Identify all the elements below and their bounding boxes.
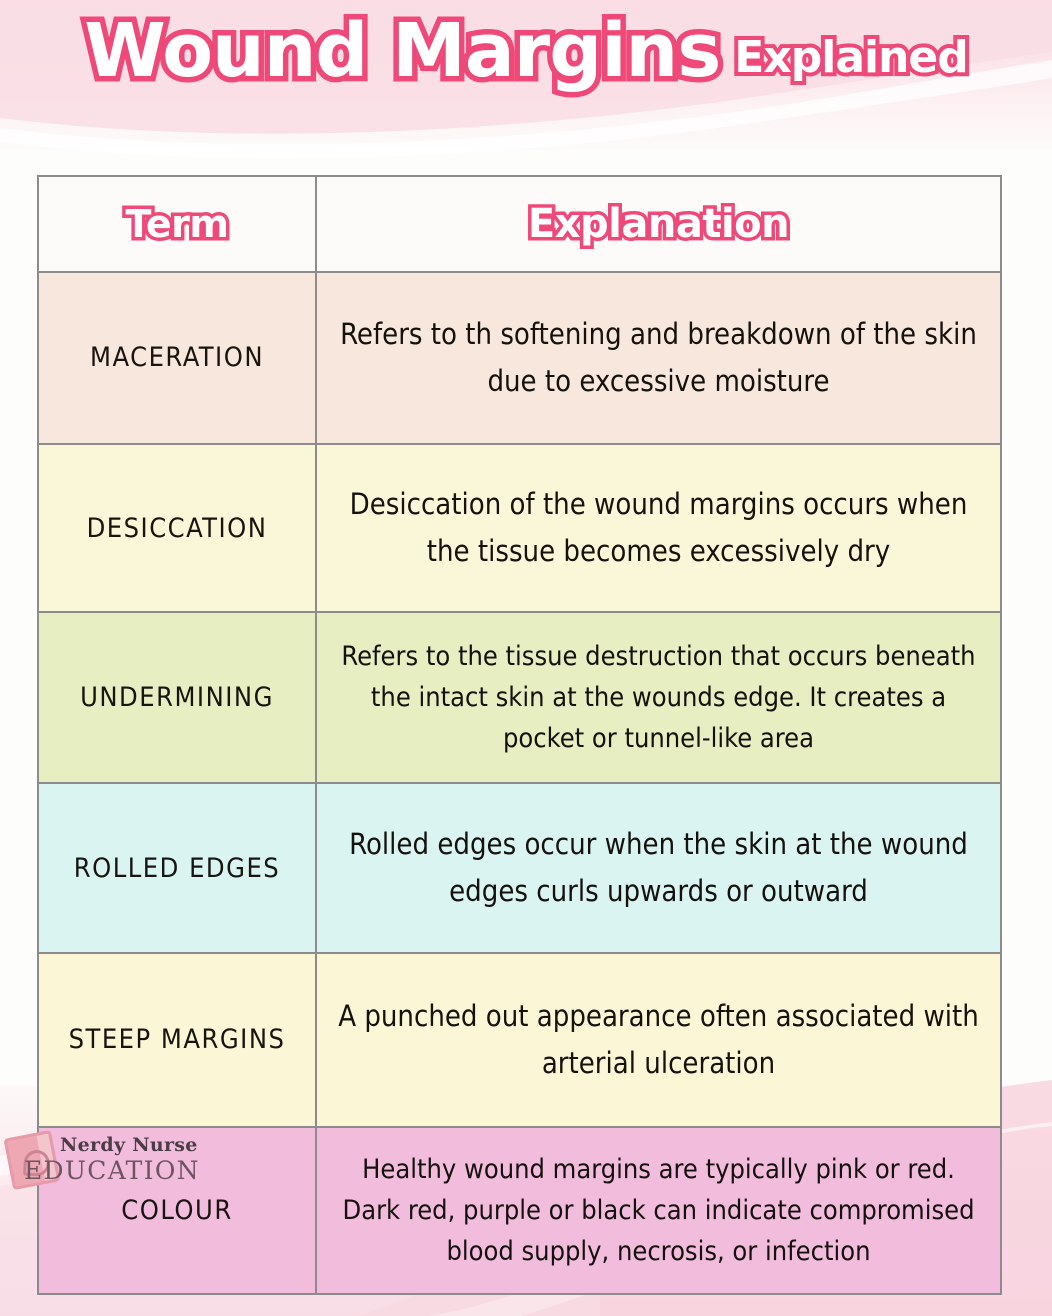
page-title: Wound Margins <box>84 14 720 88</box>
explanation-cell: Refers to th softening and breakdown of … <box>317 273 1000 443</box>
table-row: UNDERMINING Refers to the tissue destruc… <box>39 613 1000 783</box>
term-label: MACERATION <box>90 342 264 373</box>
page-header: Wound Margins Explained <box>0 0 1052 150</box>
table-row: STEEP MARGINS A punched out appearance o… <box>39 954 1000 1127</box>
column-header-explanation: Explanation <box>528 201 789 247</box>
explanation-cell: Healthy wound margins are typically pink… <box>317 1128 1000 1293</box>
term-cell: MACERATION <box>39 273 317 443</box>
term-label: COLOUR <box>121 1195 232 1226</box>
explanation-cell: Desiccation of the wound margins occurs … <box>317 445 1000 611</box>
explanation-text: Refers to th softening and breakdown of … <box>331 311 986 405</box>
term-cell: UNDERMINING <box>39 613 317 781</box>
term-cell: ROLLED EDGES <box>39 784 317 952</box>
term-label: STEEP MARGINS <box>69 1024 286 1055</box>
title-block: Wound Margins Explained <box>84 0 968 88</box>
explanation-text: Desiccation of the wound margins occurs … <box>331 481 986 575</box>
explanation-cell: Refers to the tissue destruction that oc… <box>317 613 1000 781</box>
explanation-cell: A punched out appearance often associate… <box>317 954 1000 1125</box>
explanation-text: Healthy wound margins are typically pink… <box>331 1149 986 1272</box>
explanation-text: Rolled edges occur when the skin at the … <box>331 821 986 915</box>
wound-margins-table: Term Explanation MACERATION Refers to th… <box>37 175 1002 1295</box>
column-header-term: Term <box>126 202 229 246</box>
explanation-text: Refers to the tissue destruction that oc… <box>331 636 986 759</box>
term-cell: DESICCATION <box>39 445 317 611</box>
page-subtitle: Explained <box>734 36 967 80</box>
term-cell: STEEP MARGINS <box>39 954 317 1125</box>
term-label: UNDERMINING <box>80 682 274 713</box>
explanation-cell: Rolled edges occur when the skin at the … <box>317 784 1000 952</box>
term-label: DESICCATION <box>87 513 268 544</box>
table-row: ROLLED EDGES Rolled edges occur when the… <box>39 784 1000 954</box>
table-row: DESICCATION Desiccation of the wound mar… <box>39 445 1000 613</box>
term-cell: COLOUR <box>39 1128 317 1293</box>
term-label: ROLLED EDGES <box>74 853 280 884</box>
table-header-cell-explanation: Explanation <box>317 177 1000 271</box>
table-header-cell-term: Term <box>39 177 317 271</box>
table-row: COLOUR Healthy wound margins are typical… <box>39 1128 1000 1293</box>
table-row: MACERATION Refers to th softening and br… <box>39 273 1000 445</box>
explanation-text: A punched out appearance often associate… <box>331 993 986 1087</box>
table-header-row: Term Explanation <box>39 177 1000 273</box>
